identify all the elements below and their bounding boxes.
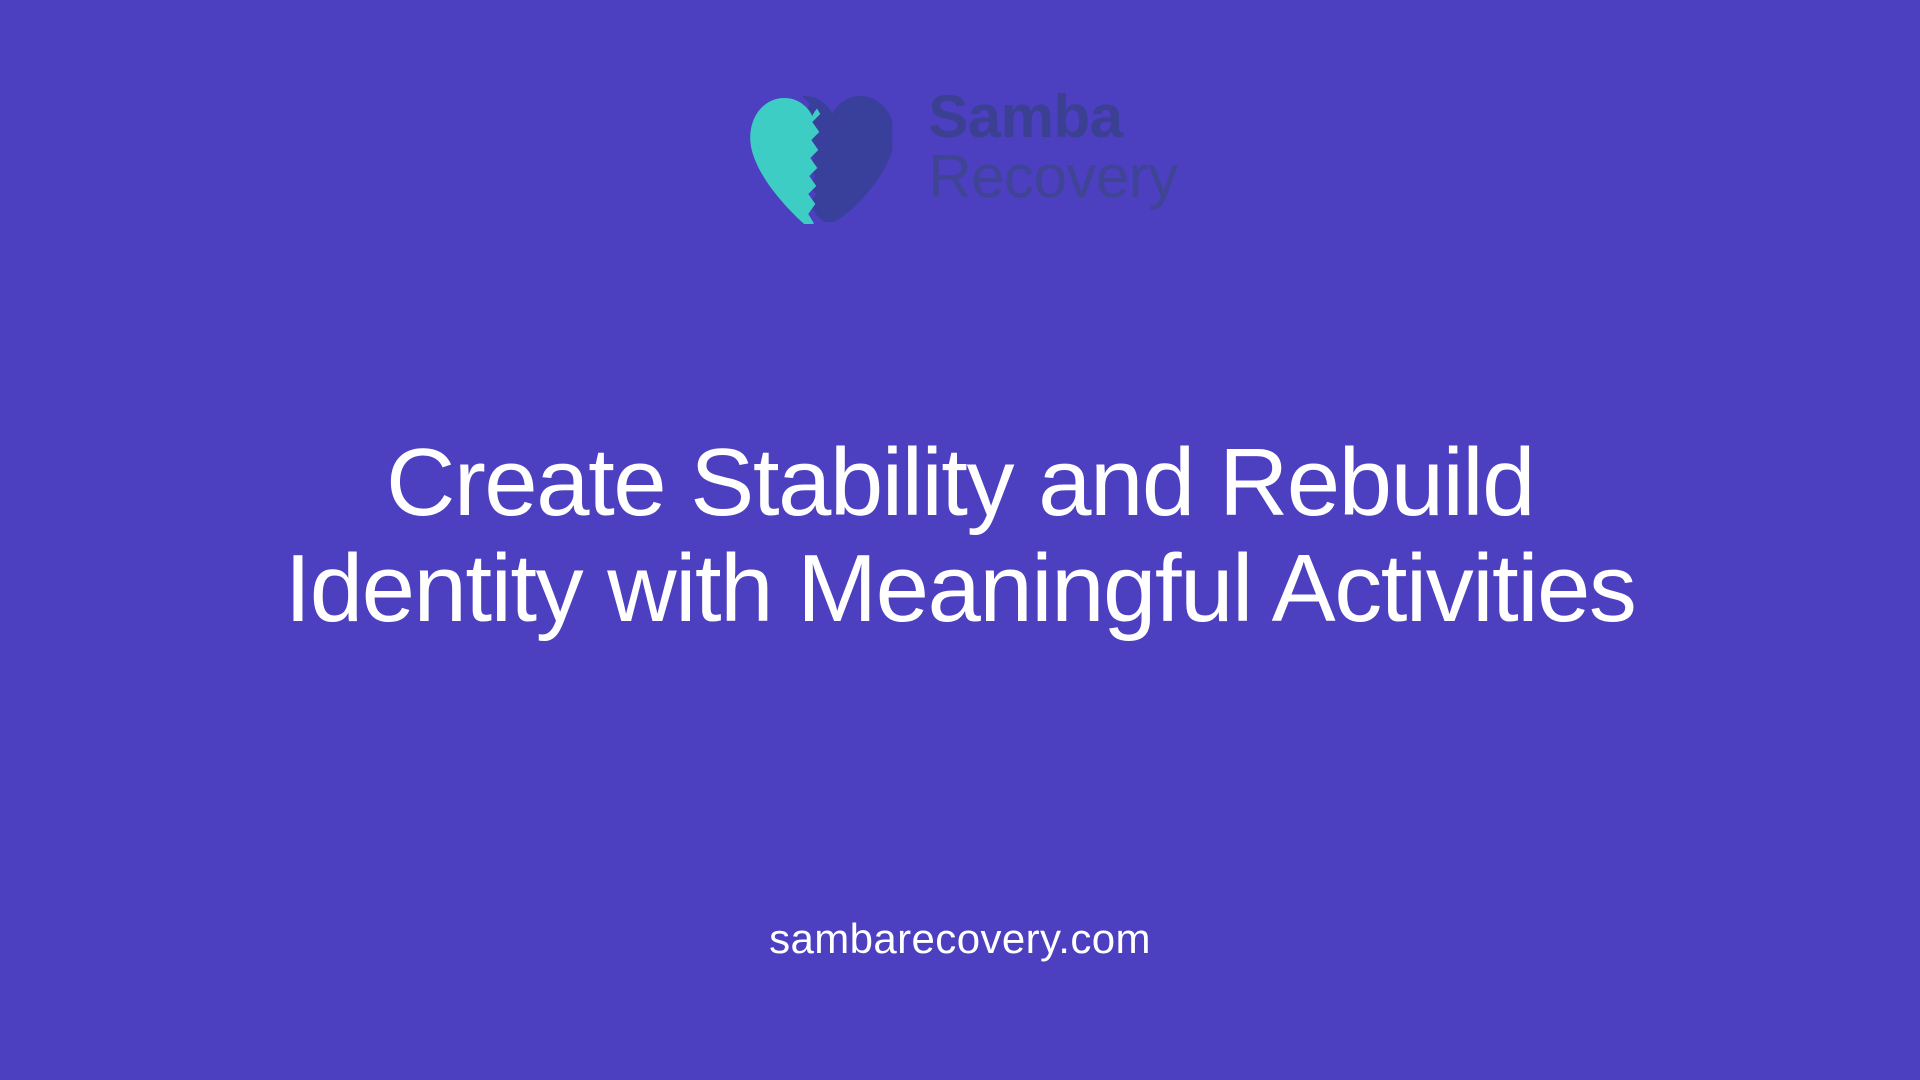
headline-block: Create Stability and Rebuild Identity wi… — [260, 430, 1660, 641]
brand-name-line-1: Samba — [928, 88, 1177, 146]
brand-lockup[interactable]: Samba Recovery — [742, 74, 1177, 224]
website-url[interactable]: sambarecovery.com — [769, 915, 1151, 963]
brand-wordmark: Samba Recovery — [928, 88, 1177, 209]
split-heart-icon — [742, 74, 892, 224]
page-title: Create Stability and Rebuild Identity wi… — [260, 430, 1660, 641]
brand-name-line-2: Recovery — [928, 148, 1177, 206]
slide-canvas: Samba Recovery Create Stability and Rebu… — [0, 0, 1920, 1080]
